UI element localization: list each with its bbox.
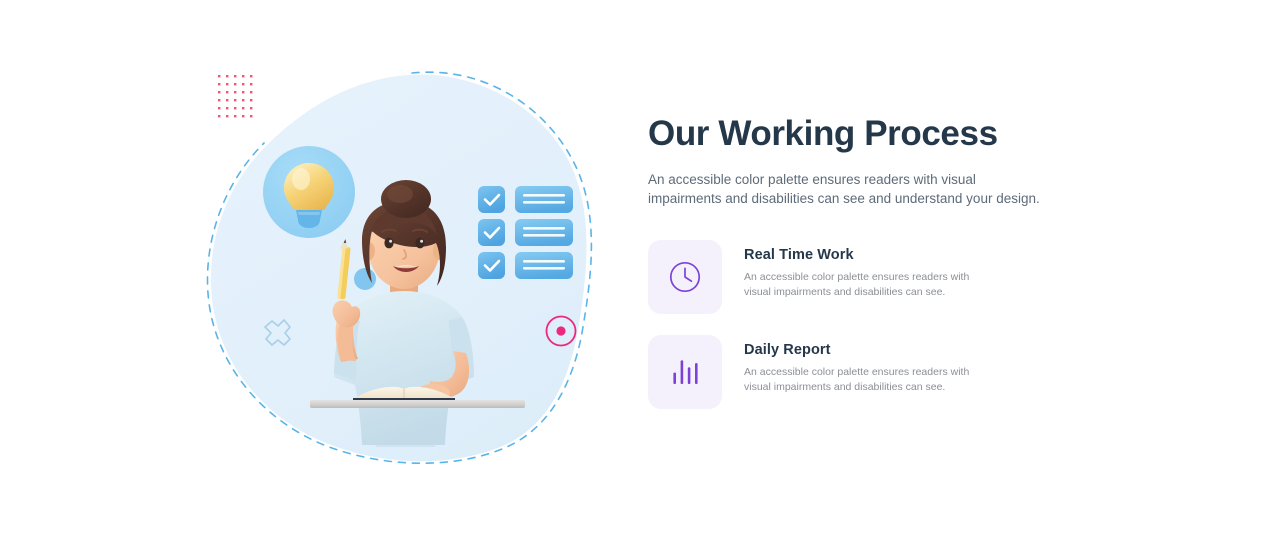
feature-text: Real Time Work An accessible color palet…: [722, 240, 984, 299]
checklist-row: [478, 252, 573, 279]
woman-working-at-desk-illustration: [190, 55, 610, 475]
page-description: An accessible color palette ensures read…: [648, 170, 1046, 208]
feature-description: An accessible color palette ensures read…: [744, 270, 984, 299]
feature-icon-tile: [648, 240, 722, 314]
desk: [310, 400, 525, 408]
red-dot-grid: [218, 75, 260, 121]
feature-title: Daily Report: [744, 342, 984, 358]
clock-icon: [668, 260, 702, 294]
checklist-row: [478, 219, 573, 246]
feature-title: Real Time Work: [744, 247, 984, 263]
feature-item-daily-report[interactable]: Daily Report An accessible color palette…: [648, 335, 1068, 409]
page-root: Our Working Process An accessible color …: [0, 0, 1280, 548]
feature-icon-tile: [648, 335, 722, 409]
small-blue-dot: [354, 268, 376, 290]
bar-chart-icon: [668, 355, 702, 389]
feature-description: An accessible color palette ensures read…: [744, 365, 984, 394]
feature-text: Daily Report An accessible color palette…: [722, 335, 984, 394]
checklist-three-items: [478, 186, 573, 279]
checklist-row: [478, 186, 573, 213]
feature-item-real-time-work[interactable]: Real Time Work An accessible color palet…: [648, 240, 1068, 314]
feature-list: Real Time Work An accessible color palet…: [648, 240, 1068, 409]
page-title: Our Working Process: [648, 112, 1068, 156]
content-column: Our Working Process An accessible color …: [648, 112, 1068, 430]
